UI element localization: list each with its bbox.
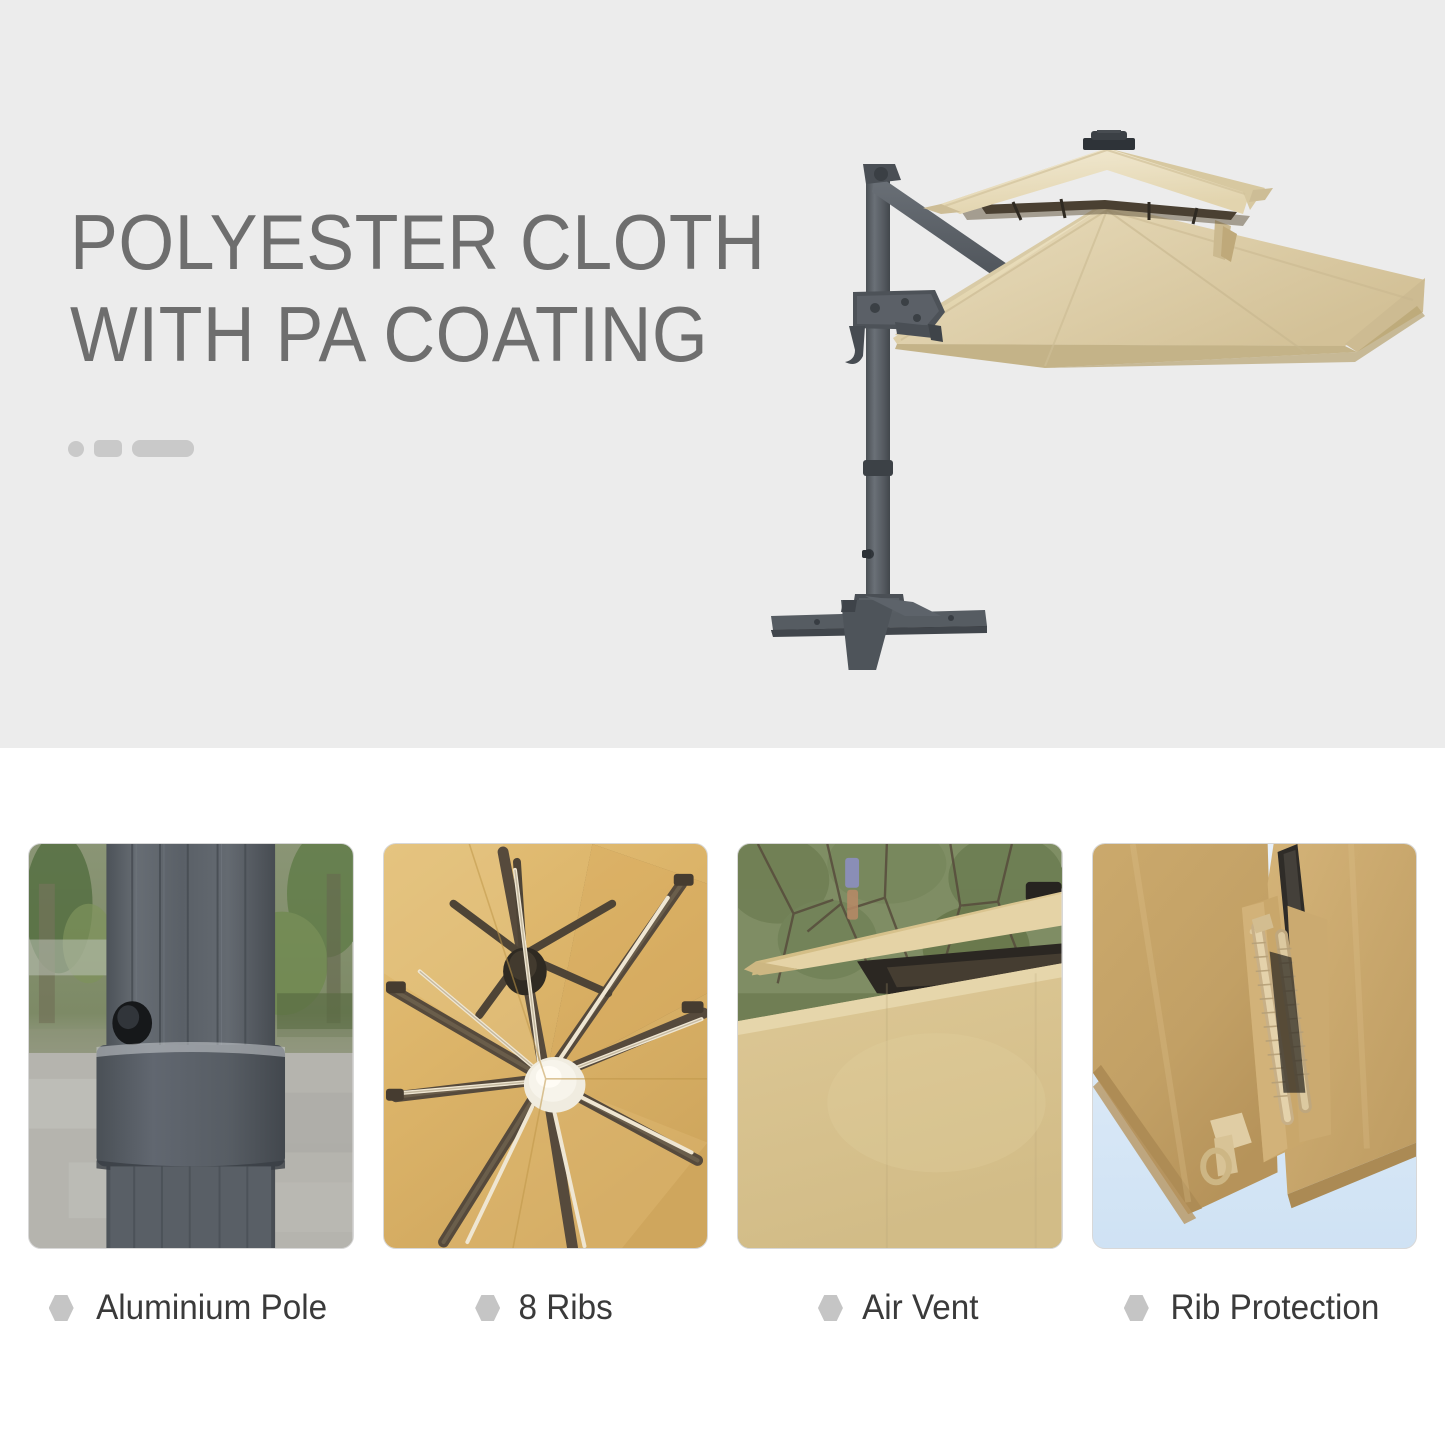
product-illustration [745,130,1425,670]
dot-icon [68,441,84,457]
feature-caption-8-ribs: 8 Ribs [383,1288,709,1328]
wide-bar-icon [132,440,194,457]
feature-label: Air Vent [862,1288,978,1328]
hexagon-bullet-icon [475,1295,500,1322]
hero-banner: POLYESTER CLOTH WITH PA COATING [0,0,1445,748]
feature-photo-rib-protection[interactable] [1092,843,1418,1249]
feature-label: Rib Protection [1170,1288,1379,1328]
umbrella-mast [862,168,893,620]
feature-photo-8-ribs[interactable] [383,843,709,1249]
hexagon-bullet-icon [818,1295,843,1322]
umbrella-finial [1083,130,1135,150]
umbrella-cross-base [771,594,987,670]
feature-caption-row: Aluminium Pole 8 Ribs Air Vent Rib Prote… [28,1288,1417,1328]
hexagon-bullet-icon [1124,1295,1149,1322]
decorative-marker-group [68,440,194,457]
feature-caption-air-vent: Air Vent [737,1288,1063,1328]
feature-photo-row [28,843,1417,1249]
feature-photo-aluminium-pole[interactable] [28,843,354,1249]
feature-label: Aluminium Pole [96,1288,327,1328]
feature-caption-aluminium-pole: Aluminium Pole [28,1288,354,1328]
hexagon-bullet-icon [49,1295,74,1322]
umbrella-lower-canopy [893,202,1425,368]
feature-photo-air-vent[interactable] [737,843,1063,1249]
page-title: POLYESTER CLOTH WITH PA COATING [70,196,765,380]
small-bar-icon [94,440,122,457]
feature-label: 8 Ribs [519,1288,613,1328]
feature-caption-rib-protection: Rib Protection [1092,1288,1418,1328]
